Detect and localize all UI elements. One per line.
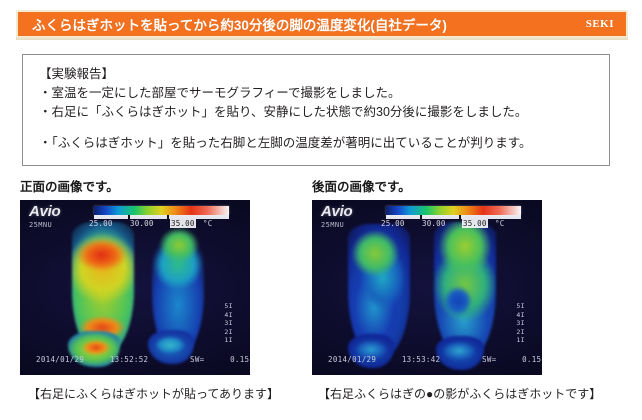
scale-max-label-front: 35.00 bbox=[170, 219, 196, 228]
ruler-mark: 5I bbox=[224, 303, 233, 311]
thermal-sw-label-front: SW= bbox=[190, 355, 204, 364]
thermal-date-front: 2014/01/29 bbox=[36, 355, 84, 364]
panel-front-label: 正面の画像です。 bbox=[20, 176, 310, 195]
thermal-mode-label-front: 25MNU bbox=[29, 221, 52, 229]
report-heading: 【実験報告】 bbox=[39, 65, 609, 84]
caption-back-view: 【右足ふくらはぎの●の影がふくらはぎホットです】 bbox=[318, 386, 634, 402]
ruler-mark: 3I bbox=[224, 320, 233, 328]
ruler-mark: 1I bbox=[224, 337, 233, 345]
report-line-1: ・室温を一定にした部屋でサーモグラフィーで撮影をしました。 bbox=[39, 84, 609, 103]
thermal-time-back: 13:53:42 bbox=[402, 355, 441, 364]
thermal-image-back: Avio 25MNU 25.00 30.00 35.00 °C 5I 4I 3I… bbox=[312, 200, 542, 375]
thermal-image-front: Avio 25MNU 25.00 30.00 35.00 °C 5I 4I 3I… bbox=[20, 200, 250, 375]
scale-unit-label-back: °C bbox=[495, 219, 504, 228]
ruler-mark: 5I bbox=[516, 303, 525, 311]
scale-mid-label-back: 30.00 bbox=[422, 219, 446, 228]
ruler-mark: 2I bbox=[516, 329, 525, 337]
ruler-mark: 1I bbox=[516, 337, 525, 345]
scale-min-label-back: 25.00 bbox=[381, 219, 405, 228]
ruler-mark: 4I bbox=[516, 312, 525, 320]
thermal-pad-shadow-marker bbox=[446, 288, 470, 314]
panel-back-label: 後面の画像です。 bbox=[312, 176, 632, 195]
header-underline-divider bbox=[16, 38, 628, 40]
report-line-2: ・右足に「ふくらはぎホット」を貼り、安静にした状態で約30分後に撮影をしました。 bbox=[39, 103, 609, 122]
thermal-footer-back: 2014/01/29 13:53:42 SW= 0.15 E=1.00 bbox=[328, 355, 542, 364]
caption-front-view: 【右足にふくらはぎホットが貼ってあります】 bbox=[28, 386, 304, 402]
scale-mid-label-front: 30.00 bbox=[130, 219, 154, 228]
ruler-mark: 2I bbox=[224, 329, 233, 337]
thermal-time-front: 13:52:52 bbox=[110, 355, 149, 364]
avio-logo-icon: Avio bbox=[321, 203, 352, 220]
thermal-sw-value-front: 0.15 bbox=[230, 355, 249, 364]
scale-unit-label-front: °C bbox=[203, 219, 212, 228]
thermal-date-back: 2014/01/29 bbox=[328, 355, 376, 364]
thermal-right-foot-back bbox=[436, 336, 484, 370]
thermal-sw-value-back: 0.15 bbox=[522, 355, 541, 364]
thermal-ruler-marks-front: 5I 4I 3I 2I 1I bbox=[224, 303, 233, 345]
experiment-report-box: 【実験報告】 ・室温を一定にした部屋でサーモグラフィーで撮影をしました。 ・右足… bbox=[22, 54, 610, 166]
thermal-mode-label-back: 25MNU bbox=[321, 221, 344, 229]
panel-back-view: 後面の画像です。 Avio 25MNU 25.00 30.00 35.00 °C… bbox=[312, 176, 632, 375]
brand-logo-seki: SEKI bbox=[586, 18, 614, 30]
ruler-mark: 4I bbox=[224, 312, 233, 320]
thermal-footer-front: 2014/01/29 13:52:52 SW= 0.15 E=1.00 bbox=[36, 355, 250, 364]
page-header-banner: ふくらはぎホットを貼ってから約30分後の脚の温度変化(自社データ) SEKI bbox=[16, 10, 628, 38]
scale-min-label-front: 25.00 bbox=[89, 219, 113, 228]
page-title: ふくらはぎホットを貼ってから約30分後の脚の温度変化(自社データ) bbox=[32, 14, 447, 34]
thermal-sw-label-back: SW= bbox=[482, 355, 496, 364]
temperature-colorbar-front bbox=[94, 206, 229, 215]
temperature-colorbar-back bbox=[386, 206, 521, 215]
scale-max-label-back: 35.00 bbox=[462, 219, 488, 228]
thermal-ruler-marks-back: 5I 4I 3I 2I 1I bbox=[516, 303, 525, 345]
avio-logo-icon: Avio bbox=[29, 203, 60, 220]
report-line-3: ・「ふくらはぎホット」を貼った右脚と左脚の温度差が著明に出ていることが判ります。 bbox=[39, 134, 609, 153]
ruler-mark: 3I bbox=[516, 320, 525, 328]
panel-front-view: 正面の画像です。 Avio 25MNU 25.00 30.00 35.00 °C… bbox=[20, 176, 310, 375]
